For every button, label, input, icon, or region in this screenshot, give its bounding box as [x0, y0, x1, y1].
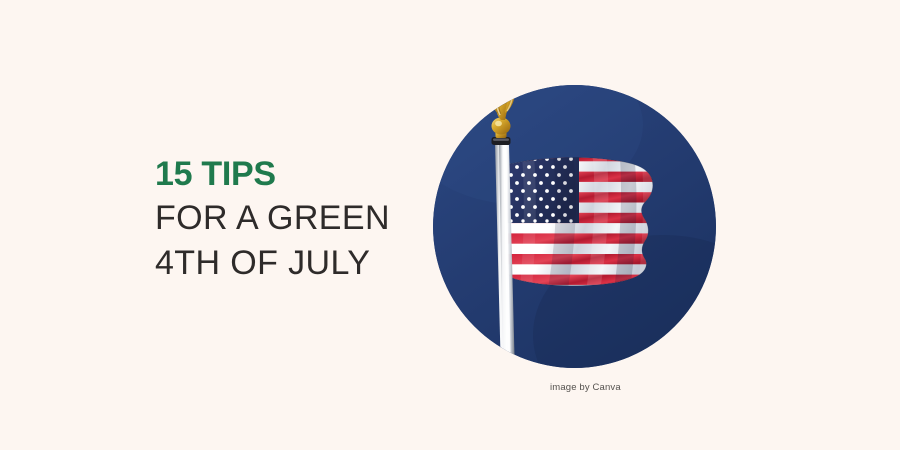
image-credit-caption: image by Canva	[550, 382, 621, 393]
flag-photo-illustration	[433, 85, 716, 368]
headline-block: 15 TIPS FOR A GREEN 4TH OF JULY	[155, 152, 425, 286]
poster-canvas: 15 TIPS FOR A GREEN 4TH OF JULY	[0, 0, 900, 450]
headline-line-1: 15 TIPS	[155, 152, 425, 196]
headline-line-3: 4TH OF JULY	[155, 241, 425, 286]
headline-line-2: FOR A GREEN	[155, 196, 425, 241]
flag-photo-circle	[433, 85, 716, 368]
